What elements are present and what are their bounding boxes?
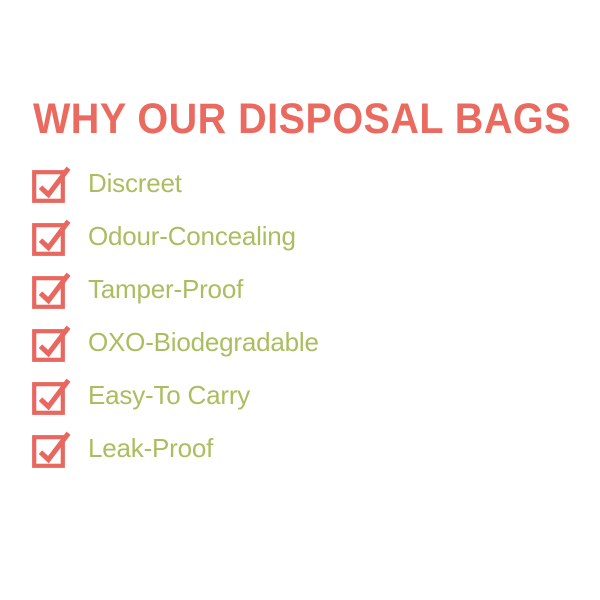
list-item: Tamper-Proof	[31, 268, 571, 310]
list-item-label: OXO-Biodegradable	[88, 327, 319, 357]
list-item-label: Tamper-Proof	[88, 274, 243, 304]
checkbox-checked-icon	[31, 322, 71, 362]
list-item-label: Odour-Concealing	[88, 221, 296, 251]
list-item-label: Leak-Proof	[88, 433, 213, 463]
checkbox-checked-icon	[31, 163, 71, 203]
checkbox-checked-icon	[31, 269, 71, 309]
list-item: Discreet	[31, 162, 571, 204]
list-item-label: Easy-To Carry	[88, 380, 250, 410]
poster-canvas: WHY OUR DISPOSAL BAGS Discreet Odour-Con…	[0, 0, 600, 600]
page-title: WHY OUR DISPOSAL BAGS	[33, 97, 530, 141]
checkbox-checked-icon	[31, 375, 71, 415]
list-item-label: Discreet	[88, 168, 182, 198]
checkbox-checked-icon	[31, 428, 71, 468]
feature-list: Discreet Odour-Concealing Tamper-Proof O…	[31, 162, 571, 469]
list-item: Odour-Concealing	[31, 215, 571, 257]
list-item: Leak-Proof	[31, 427, 571, 469]
list-item: Easy-To Carry	[31, 374, 571, 416]
list-item: OXO-Biodegradable	[31, 321, 571, 363]
checkbox-checked-icon	[31, 216, 71, 256]
